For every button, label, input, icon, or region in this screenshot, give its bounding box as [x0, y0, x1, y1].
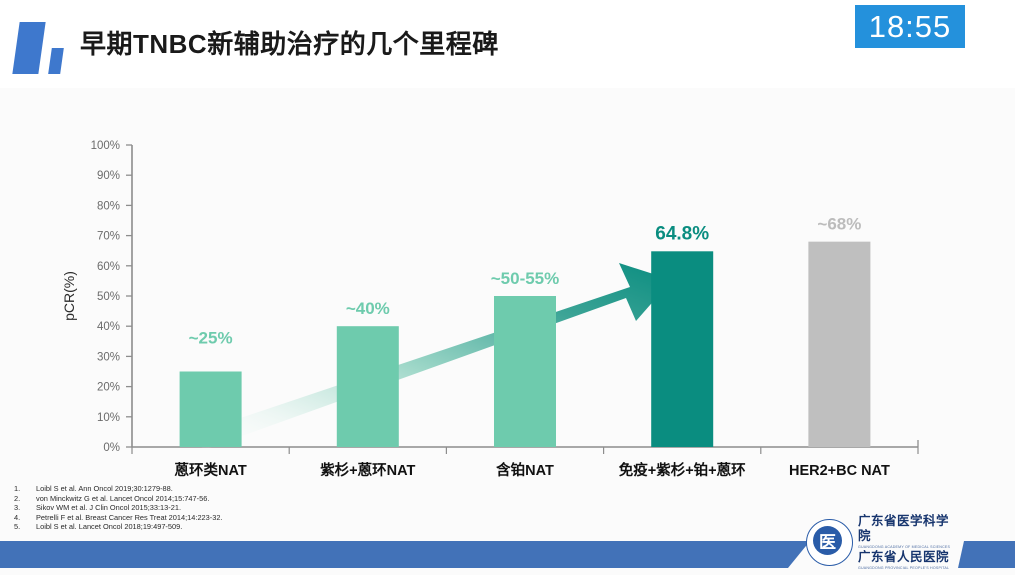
- footer-accent-block: [958, 541, 1015, 568]
- reference-item: 4.Petrelli F et al. Breast Cancer Res Tr…: [8, 513, 438, 523]
- accent-bar-large: [12, 22, 45, 74]
- reference-item: 5.Loibl S et al. Lancet Oncol 2018;19:49…: [8, 522, 438, 532]
- y-tick-label: 20%: [97, 382, 120, 394]
- y-tick-label: 90%: [97, 170, 120, 182]
- reference-item: 3.Sikov WM et al. J Clin Oncol 2015;33:1…: [8, 503, 438, 513]
- reference-item: 2.von Minckwitz G et al. Lancet Oncol 20…: [8, 494, 438, 504]
- category-label: 免疫+紫杉+铂+蒽环: [619, 461, 746, 479]
- logo-academy-cn: 广东省医学科学院: [858, 514, 956, 544]
- reference-text: Loibl S et al. Ann Oncol 2019;30:1279-88…: [36, 484, 173, 494]
- pcr-bar-chart: 0%10%20%30%40%50%60%70%80%90%100% pCR(%)…: [0, 88, 1015, 480]
- reference-text: Sikov WM et al. J Clin Oncol 2015;33:13-…: [36, 503, 181, 513]
- reference-text: Loibl S et al. Lancet Oncol 2018;19:497-…: [36, 522, 182, 532]
- category-label: HER2+BC NAT: [789, 463, 890, 479]
- bar-value-label: ~50-55%: [491, 269, 560, 288]
- reference-number: 3.: [8, 503, 36, 513]
- logo-text-block: 广东省医学科学院 GUANGDONG ACADEMY OF MEDICAL SC…: [858, 514, 956, 571]
- bar-value-label: ~40%: [346, 299, 390, 318]
- logo-seal-glyph: 医: [807, 520, 848, 561]
- reference-text: von Minckwitz G et al. Lancet Oncol 2014…: [36, 494, 209, 504]
- bar-1: [180, 372, 242, 448]
- y-tick-label: 30%: [97, 351, 120, 363]
- title-accent-marks: [14, 22, 78, 74]
- bar-4: [651, 251, 713, 447]
- page-title: 早期TNBC新辅助治疗的几个里程碑: [80, 24, 499, 61]
- reference-number: 1.: [8, 484, 36, 494]
- bar-2: [337, 326, 399, 447]
- chart-svg: 0%10%20%30%40%50%60%70%80%90%100% pCR(%)…: [0, 88, 1015, 480]
- institution-logo: 医 广东省医学科学院 GUANGDONG ACADEMY OF MEDICAL …: [806, 516, 956, 568]
- reference-list: 1.Loibl S et al. Ann Oncol 2019;30:1279-…: [8, 484, 438, 532]
- accent-bar-small: [48, 48, 64, 74]
- category-label: 紫杉+蒽环NAT: [320, 461, 415, 479]
- bar-value-label: 64.8%: [655, 223, 709, 244]
- y-tick-label: 40%: [97, 321, 120, 333]
- reference-number: 5.: [8, 522, 36, 532]
- category-label: 含铂NAT: [496, 461, 554, 479]
- category-label: 蒽环类NAT: [174, 461, 246, 479]
- y-axis-title: pCR(%): [61, 271, 77, 321]
- reference-number: 2.: [8, 494, 36, 504]
- bar-value-label: ~68%: [817, 215, 861, 234]
- bar-3: [494, 296, 556, 447]
- logo-seal-icon: 医: [806, 519, 853, 566]
- slide-header: 早期TNBC新辅助治疗的几个里程碑 18:55: [0, 0, 1015, 88]
- y-tick-label: 0%: [103, 442, 120, 454]
- bar-5: [808, 242, 870, 447]
- bar-value-label: ~25%: [189, 329, 233, 348]
- reference-text: Petrelli F et al. Breast Cancer Res Trea…: [36, 513, 223, 523]
- logo-hospital-cn: 广东省人民医院: [858, 550, 956, 565]
- y-tick-label: 70%: [97, 231, 120, 243]
- y-tick-label: 60%: [97, 261, 120, 273]
- rising-trend-arrow: [196, 263, 672, 450]
- x-axis-ticks: [132, 447, 918, 454]
- footer-band: [0, 541, 810, 568]
- y-axis-ticks: 0%10%20%30%40%50%60%70%80%90%100%: [91, 140, 132, 454]
- category-labels: 蒽环类NAT紫杉+蒽环NAT含铂NAT免疫+紫杉+铂+蒽环HER2+BC NAT: [174, 461, 889, 479]
- logo-hospital-en: GUANGDONG PROVINCIAL PEOPLE'S HOSPITAL: [858, 565, 956, 571]
- slide-canvas: 早期TNBC新辅助治疗的几个里程碑 18:55 0%10%20: [0, 0, 1015, 575]
- reference-item: 1.Loibl S et al. Ann Oncol 2019;30:1279-…: [8, 484, 438, 494]
- y-tick-label: 80%: [97, 200, 120, 212]
- y-tick-label: 50%: [97, 291, 120, 303]
- clock-badge: 18:55: [855, 5, 965, 48]
- reference-number: 4.: [8, 513, 36, 523]
- y-tick-label: 10%: [97, 412, 120, 424]
- y-tick-label: 100%: [91, 140, 120, 152]
